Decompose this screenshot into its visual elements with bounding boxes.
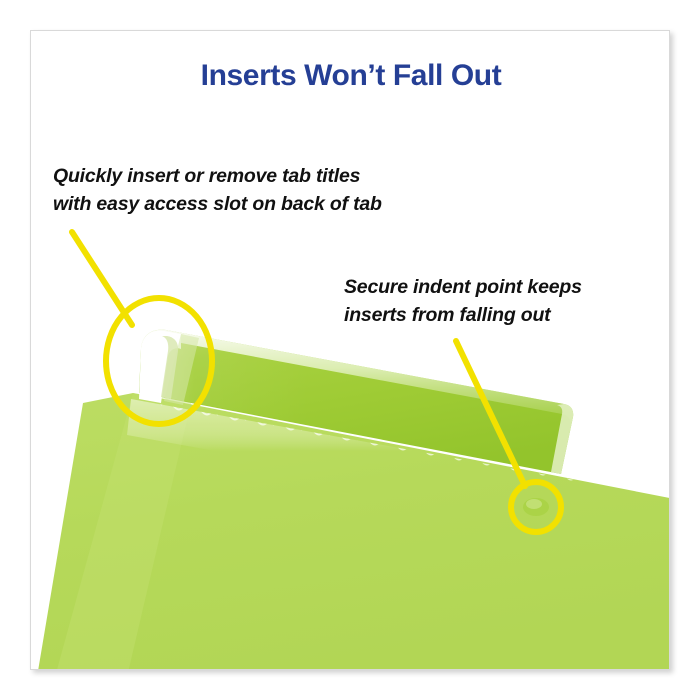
product-image-panel: Inserts Won’t Fall Out Quickly insert or… <box>30 30 670 670</box>
callout-caption-access-slot: Quickly insert or remove tab titles with… <box>53 163 382 218</box>
secure-indent-point-highlight <box>526 499 542 509</box>
callout-caption-secure-indent: Secure indent point keeps inserts from f… <box>344 274 582 329</box>
screenshot-canvas: Inserts Won’t Fall Out Quickly insert or… <box>0 0 700 700</box>
product-photo <box>31 31 670 670</box>
page-title: Inserts Won’t Fall Out <box>31 59 670 92</box>
